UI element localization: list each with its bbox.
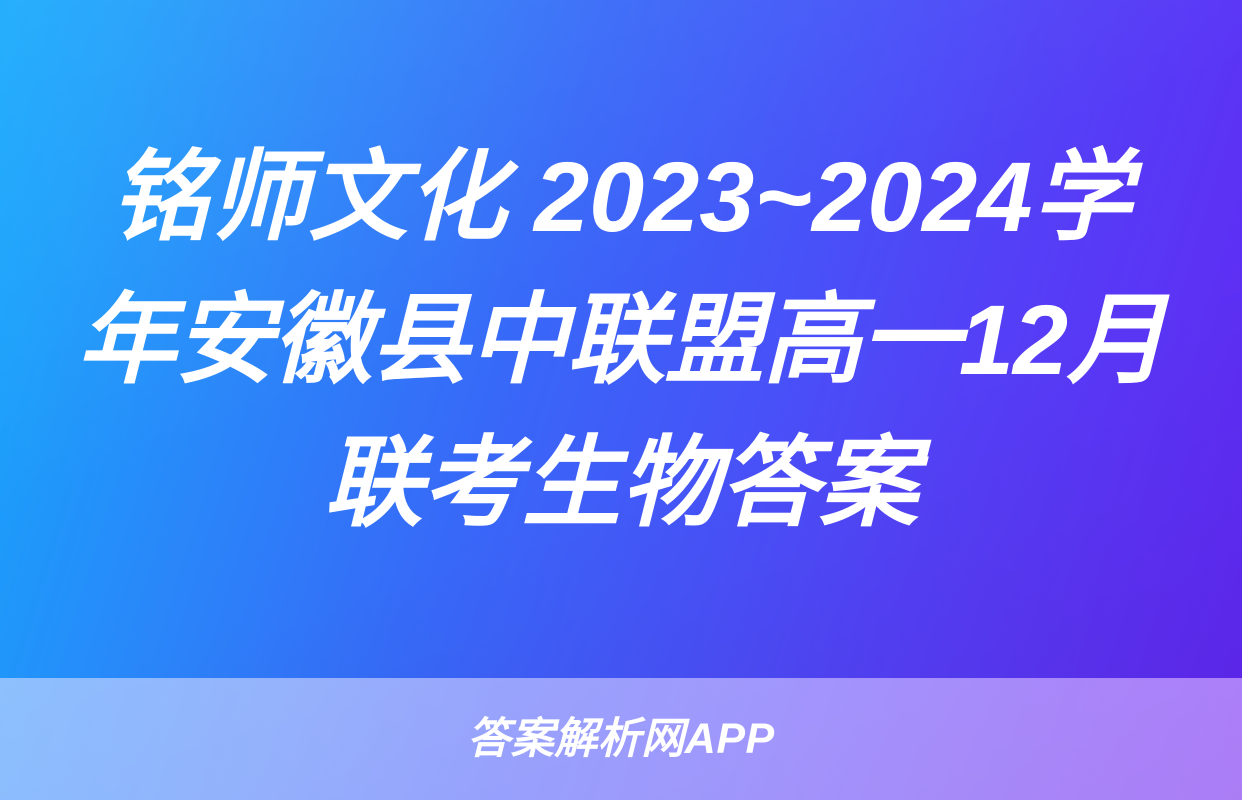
- title-line-2: 年安徽县中联盟高一12月: [49, 268, 1193, 411]
- app-promo-bar[interactable]: 答案解析网APP: [0, 678, 1242, 800]
- title-line-3: 联考生物答案: [49, 411, 1193, 554]
- app-promo-label: 答案解析网APP: [467, 718, 774, 761]
- page-title: 铭师文化 2023~2024学 年安徽县中联盟高一12月 联考生物答案: [41, 125, 1201, 554]
- title-line-1: 铭师文化 2023~2024学: [49, 125, 1193, 268]
- poster-root: 铭师文化 2023~2024学 年安徽县中联盟高一12月 联考生物答案 答案解析…: [0, 0, 1242, 800]
- hero-banner: 铭师文化 2023~2024学 年安徽县中联盟高一12月 联考生物答案: [0, 0, 1242, 678]
